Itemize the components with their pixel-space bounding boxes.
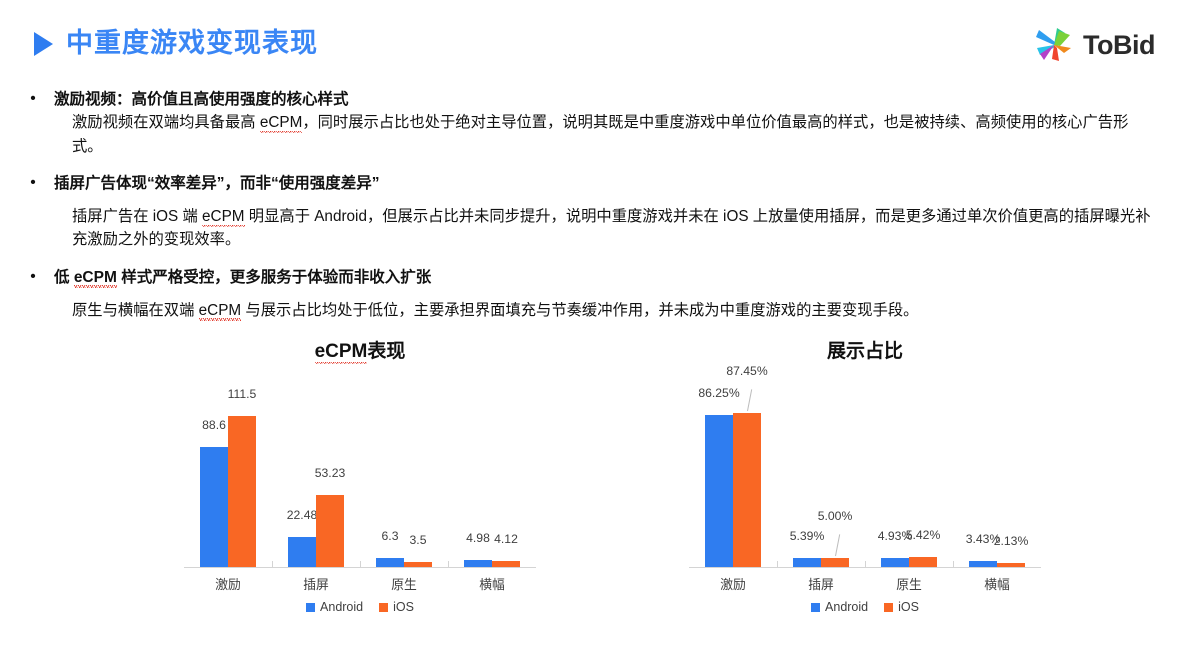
bar-ios bbox=[909, 557, 937, 567]
body-text-pre: 插屏广告在 iOS 端 bbox=[72, 208, 202, 225]
bullet-marker: • bbox=[0, 266, 46, 289]
triangle-right-icon bbox=[34, 32, 53, 56]
chart-legend: AndroidiOS bbox=[655, 600, 1075, 614]
spellcheck-term: eCPM bbox=[74, 269, 117, 288]
brand-logo: ToBid bbox=[1034, 26, 1155, 64]
chart-title-spell: eCPM bbox=[315, 341, 368, 364]
legend-label: iOS bbox=[393, 600, 414, 614]
bar-android bbox=[288, 537, 316, 567]
brand-name: ToBid bbox=[1083, 30, 1155, 61]
bar-group bbox=[448, 387, 536, 567]
bar-android bbox=[793, 558, 821, 567]
bar-group bbox=[953, 387, 1041, 567]
bullet-body-2: 插屏广告在 iOS 端 eCPM 明显高于 Android，但展示占比并未同步提… bbox=[72, 205, 1153, 252]
axis-tick bbox=[865, 561, 866, 568]
bar-value-label: 87.45% bbox=[726, 364, 767, 378]
spellcheck-term: eCPM bbox=[202, 208, 245, 227]
chart-title-ecpm: eCPM表现 bbox=[150, 336, 570, 362]
bar-android bbox=[881, 558, 909, 567]
chart-ecpm: eCPM表现 88.6111.522.4853.236.33.54.984.12… bbox=[150, 336, 570, 606]
bar-android bbox=[464, 560, 492, 567]
heading-text-post: 样式严格受控，更多服务于体验而非收入扩张 bbox=[117, 269, 431, 286]
tobid-pinwheel-logo-icon bbox=[1034, 26, 1074, 64]
bullet-block-2: • 插屏广告体现“效率差异”，而非“使用强度差异” 插屏广告在 iOS 端 eC… bbox=[0, 172, 1197, 252]
body-text-post: 与展示占比均处于低位，主要承担界面填充与节奏缓冲作用，并未成为中重度游戏的主要变… bbox=[241, 302, 918, 319]
bullet-heading-row-2: • 插屏广告体现“效率差异”，而非“使用强度差异” bbox=[0, 172, 1197, 195]
legend-swatch bbox=[379, 603, 388, 612]
axis-tick bbox=[360, 561, 361, 568]
bullet-marker: • bbox=[0, 88, 46, 111]
chart-legend: AndroidiOS bbox=[150, 600, 570, 614]
chart-category-labels: 激励插屏原生横幅 bbox=[689, 568, 1041, 594]
bullet-body-3: 原生与横幅在双端 eCPM 与展示占比均处于低位，主要承担界面填充与节奏缓冲作用… bbox=[72, 299, 1153, 322]
bar-ios bbox=[316, 495, 344, 567]
chart-title-rest: 表现 bbox=[367, 341, 405, 362]
legend-item-ios[interactable]: iOS bbox=[884, 600, 919, 614]
category-label-1: 插屏 bbox=[303, 574, 329, 593]
chart-title-share: 展示占比 bbox=[655, 336, 1075, 362]
heading-text-pre: 低 bbox=[54, 269, 74, 286]
bullet-heading-2: 插屏广告体现“效率差异”，而非“使用强度差异” bbox=[46, 172, 380, 195]
category-label-2: 原生 bbox=[391, 574, 417, 593]
bar-ios bbox=[228, 416, 256, 567]
chart-plot-area: 88.6111.522.4853.236.33.54.984.12 bbox=[184, 388, 536, 568]
axis-tick bbox=[272, 561, 273, 568]
bar-ios bbox=[997, 563, 1025, 567]
category-label-3: 横幅 bbox=[984, 574, 1010, 593]
bullet-heading-1: 激励视频：高价值且高使用强度的核心样式 bbox=[46, 88, 349, 111]
legend-item-ios[interactable]: iOS bbox=[379, 600, 414, 614]
axis-tick bbox=[448, 561, 449, 568]
page-title-row: 中重度游戏变现表现 bbox=[34, 30, 318, 57]
chart-category-labels: 激励插屏原生横幅 bbox=[184, 568, 536, 594]
bar-android bbox=[705, 415, 733, 567]
axis-tick bbox=[953, 561, 954, 568]
bullet-heading-3: 低 eCPM 样式严格受控，更多服务于体验而非收入扩张 bbox=[46, 266, 431, 289]
bar-group bbox=[360, 387, 448, 567]
chart-plot-area: 86.25%87.45%5.39%5.00%4.93%5.42%3.43%2.1… bbox=[689, 388, 1041, 568]
spellcheck-term: eCPM bbox=[260, 114, 303, 133]
legend-label: iOS bbox=[898, 600, 919, 614]
page-title: 中重度游戏变现表现 bbox=[66, 30, 318, 57]
legend-label: Android bbox=[825, 600, 868, 614]
bar-android bbox=[969, 561, 997, 567]
category-label-3: 横幅 bbox=[479, 574, 505, 593]
body-text-pre: 原生与横幅在双端 bbox=[72, 302, 199, 319]
bullet-marker: • bbox=[0, 172, 46, 195]
bar-group bbox=[777, 387, 865, 567]
category-label-1: 插屏 bbox=[808, 574, 834, 593]
bullet-heading-row-1: • 激励视频：高价值且高使用强度的核心样式 bbox=[0, 88, 1197, 111]
legend-item-android[interactable]: Android bbox=[811, 600, 868, 614]
legend-label: Android bbox=[320, 600, 363, 614]
legend-swatch bbox=[306, 603, 315, 612]
category-label-2: 原生 bbox=[896, 574, 922, 593]
bar-group bbox=[865, 387, 953, 567]
category-label-0: 激励 bbox=[215, 574, 241, 593]
bar-android bbox=[376, 558, 404, 567]
slide-header: 中重度游戏变现表现 ToBid bbox=[0, 30, 1197, 80]
bullet-body-1: 激励视频在双端均具备最高 eCPM，同时展示占比也处于绝对主导位置，说明其既是中… bbox=[72, 111, 1153, 158]
bullet-block-3: • 低 eCPM 样式严格受控，更多服务于体验而非收入扩张 原生与横幅在双端 e… bbox=[0, 266, 1197, 323]
bar-group bbox=[272, 387, 360, 567]
bullet-list: • 激励视频：高价值且高使用强度的核心样式 激励视频在双端均具备最高 eCPM，… bbox=[0, 88, 1197, 324]
chart-share: 展示占比 86.25%87.45%5.39%5.00%4.93%5.42%3.4… bbox=[655, 336, 1075, 606]
bullet-heading-row-3: • 低 eCPM 样式严格受控，更多服务于体验而非收入扩张 bbox=[0, 266, 1197, 289]
bar-android bbox=[200, 447, 228, 567]
bar-group bbox=[689, 387, 777, 567]
body-text-pre: 激励视频在双端均具备最高 bbox=[72, 114, 260, 131]
legend-swatch bbox=[811, 603, 820, 612]
bar-ios bbox=[821, 558, 849, 567]
axis-tick bbox=[777, 561, 778, 568]
bar-group bbox=[184, 387, 272, 567]
category-label-0: 激励 bbox=[720, 574, 746, 593]
spellcheck-term: eCPM bbox=[199, 302, 242, 321]
bullet-block-1: • 激励视频：高价值且高使用强度的核心样式 激励视频在双端均具备最高 eCPM，… bbox=[0, 88, 1197, 158]
bar-ios bbox=[492, 561, 520, 567]
legend-item-android[interactable]: Android bbox=[306, 600, 363, 614]
legend-swatch bbox=[884, 603, 893, 612]
bar-ios bbox=[733, 413, 761, 567]
bar-ios bbox=[404, 562, 432, 567]
